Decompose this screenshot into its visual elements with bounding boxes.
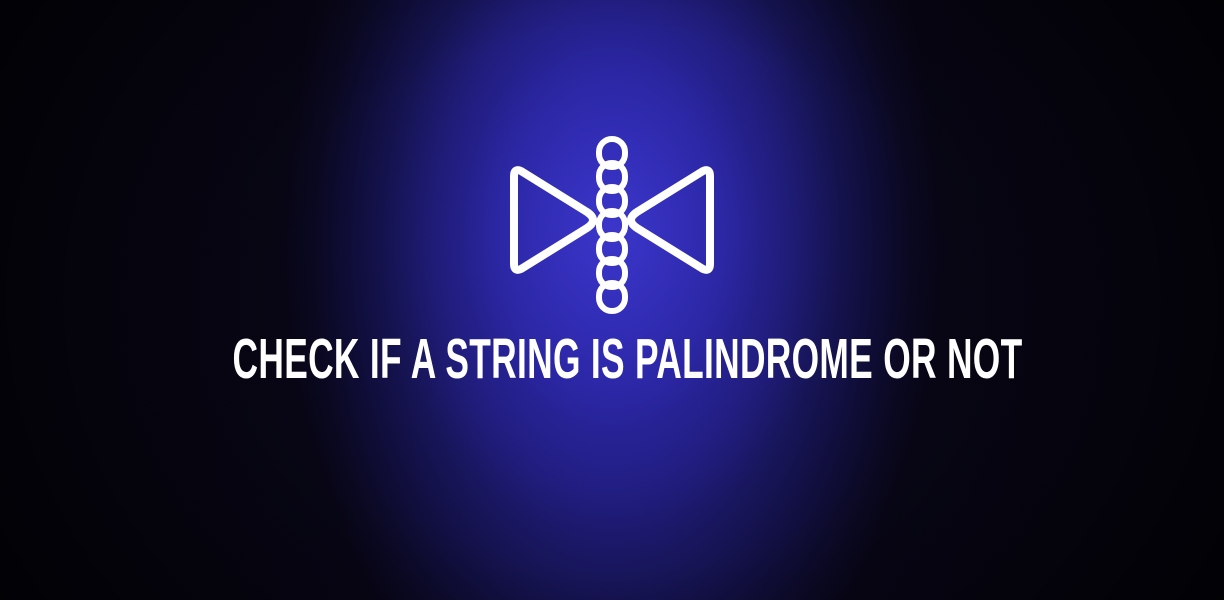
- vertical-chain-divider-icon: [599, 139, 625, 311]
- triangle-pointing-left-icon: [631, 170, 710, 270]
- banner-content: CHECK IF A STRING IS PALINDROME OR NOT: [0, 0, 1224, 600]
- triangle-pointing-right-icon: [514, 170, 593, 270]
- page-title: CHECK IF A STRING IS PALINDROME OR NOT: [233, 329, 992, 389]
- palindrome-mirror-icon: [492, 130, 732, 310]
- palindrome-banner: CHECK IF A STRING IS PALINDROME OR NOT: [0, 0, 1224, 600]
- palindrome-mirror-icon-svg: [492, 130, 732, 310]
